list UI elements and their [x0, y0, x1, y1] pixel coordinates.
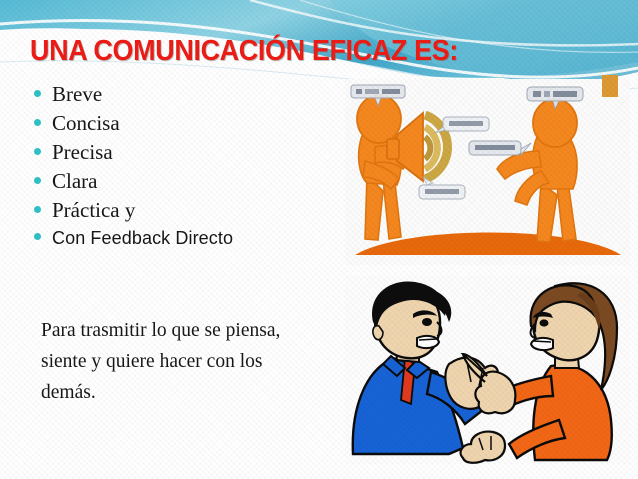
list-item-label: Con Feedback Directo — [52, 229, 233, 247]
bullet-dot-icon — [34, 90, 41, 97]
communication-diagram-image — [345, 79, 630, 265]
arguing-people-image — [345, 276, 630, 464]
list-item-label: Breve — [52, 84, 102, 105]
bullet-dot-icon — [34, 148, 41, 155]
page-title: UNA COMUNICACIÓN EFICAZ ES: — [30, 35, 458, 68]
list-item-label: Concisa — [52, 113, 120, 134]
list-item: Práctica y — [34, 200, 334, 229]
bullet-list: Breve Concisa Precisa Clara Práctica y C… — [34, 84, 334, 258]
list-item: Con Feedback Directo — [34, 229, 334, 258]
list-item-label: Práctica y — [52, 200, 135, 221]
bullet-dot-icon — [34, 119, 41, 126]
list-item-label: Precisa — [52, 142, 113, 163]
list-item-label: Clara — [52, 171, 97, 192]
presentation-slide: UNA COMUNICACIÓN EFICAZ ES: Breve Concis… — [0, 0, 638, 479]
diagram-label-message — [435, 117, 489, 133]
list-item: Precisa — [34, 142, 334, 171]
orange-square-decoration — [602, 75, 618, 97]
list-item: Clara — [34, 171, 334, 200]
list-item: Concisa — [34, 113, 334, 142]
list-item: Breve — [34, 84, 334, 113]
bullet-dot-icon — [34, 233, 41, 240]
body-paragraph: Para trasmitir lo que se piensa, siente … — [41, 315, 311, 408]
bullet-dot-icon — [34, 177, 41, 184]
bullet-dot-icon — [34, 206, 41, 213]
